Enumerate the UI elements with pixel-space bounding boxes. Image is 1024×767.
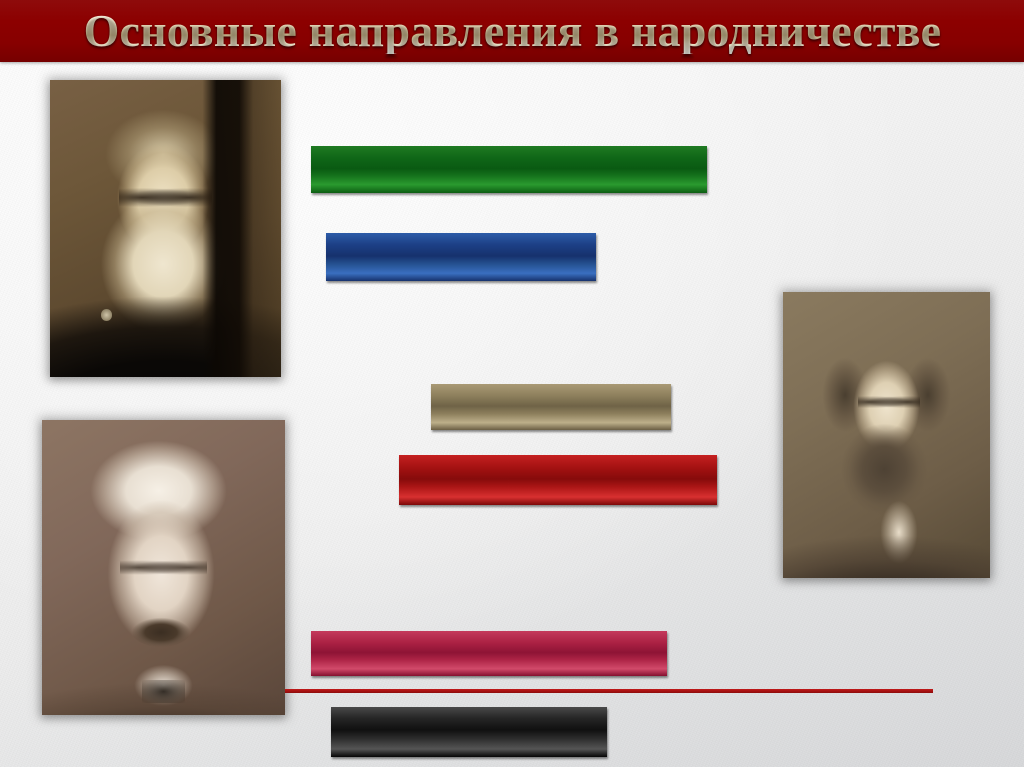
direction-person-tkachev: П.Н. Ткачёв	[331, 707, 607, 757]
portrait-lavrov-image	[50, 80, 281, 377]
direction-heading-buntarskoe: Бунтарское	[431, 384, 671, 430]
portrait-tkachev	[42, 420, 285, 715]
slide-title: Основные направления в народничестве	[83, 9, 941, 54]
direction-heading-zagovorshchicheskoe: Заговорщическое	[311, 631, 667, 676]
portrait-bakunin-image	[783, 292, 990, 578]
portrait-bakunin	[783, 292, 990, 578]
slide-title-banner: Основные направления в народничестве	[0, 0, 1024, 62]
presentation-slide: Основные направления в народничестве Про…	[0, 0, 1024, 767]
direction-heading-propaganda: Пропагандистское	[311, 146, 707, 193]
direction-person-lavrov: П.Л. Лавров	[326, 233, 596, 281]
portrait-lavrov	[50, 80, 281, 377]
direction-person-bakunin: М.А. Бакунин	[399, 455, 717, 505]
portrait-tkachev-image	[42, 420, 285, 715]
red-divider-line	[285, 689, 933, 693]
